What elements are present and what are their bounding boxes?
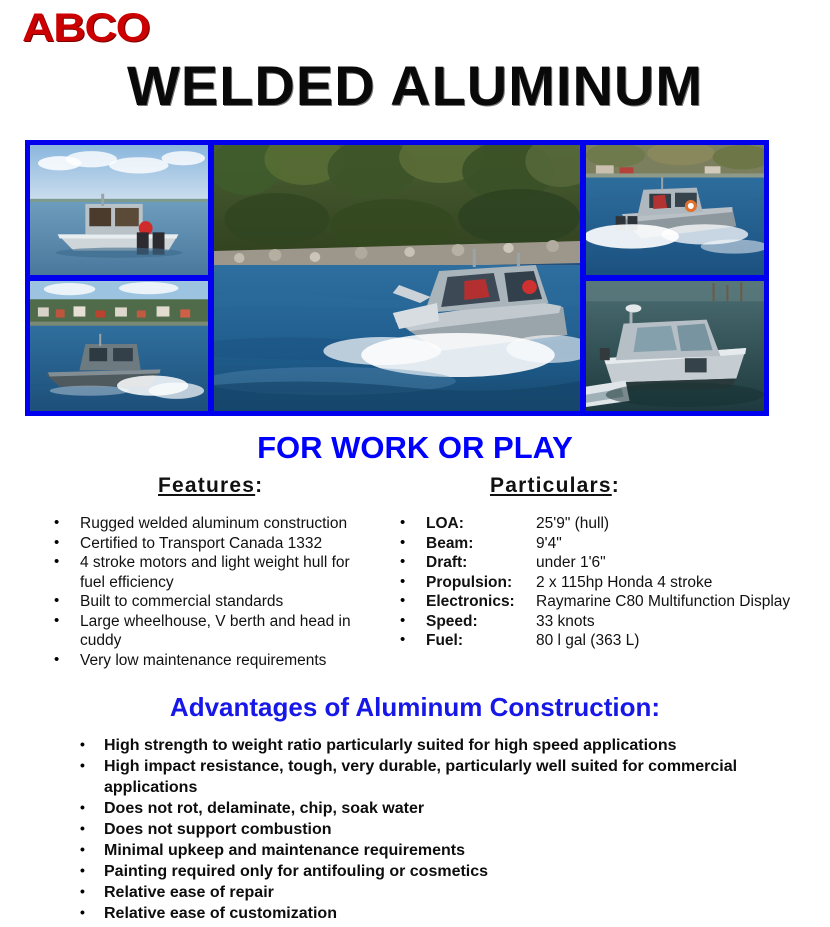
list-item: High strength to weight ratio particular…	[66, 735, 776, 756]
boat-photo-planing-harbour-icon	[586, 145, 764, 275]
boat-photo-docked-wheelhouse-icon	[586, 281, 764, 411]
list-item: Relative ease of repair	[66, 882, 776, 903]
list-item: Large wheelhouse, V berth and head in cu…	[46, 612, 376, 651]
particular-value: Raymarine C80 Multifunction Display	[536, 592, 812, 612]
boat-photo-running-past-village-icon	[30, 281, 208, 411]
table-row: Beam: 9'4"	[392, 534, 812, 554]
particulars-heading: Particulars:	[490, 474, 620, 498]
list-item: Certified to Transport Canada 1332	[46, 534, 376, 554]
photo-right-top	[586, 145, 764, 275]
particulars-heading-colon: :	[612, 474, 620, 497]
list-item: High impact resistance, tough, very dura…	[66, 756, 776, 798]
particular-value: 9'4"	[536, 534, 812, 554]
boat-photo-underway-rocky-shoreline-icon	[214, 145, 580, 411]
particular-label: Speed:	[426, 612, 536, 632]
features-bullet-list: Rugged welded aluminum construction Cert…	[46, 514, 376, 670]
abco-logo-text: ABCO	[22, 6, 149, 50]
photo-left-bottom	[30, 281, 208, 411]
particulars-list: LOA: 25'9" (hull) Beam: 9'4" Draft: unde…	[392, 514, 812, 651]
particular-label: Fuel:	[426, 631, 536, 651]
table-row: Electronics: Raymarine C80 Multifunction…	[392, 592, 812, 612]
list-item: Relative ease of customization	[66, 903, 776, 924]
particular-label: Draft:	[426, 553, 536, 573]
particular-label: LOA:	[426, 514, 536, 534]
table-row: Speed: 33 knots	[392, 612, 812, 632]
list-item: Minimal upkeep and maintenance requireme…	[66, 840, 776, 861]
tagline: FOR WORK OR PLAY	[0, 430, 830, 466]
particular-value: 2 x 115hp Honda 4 stroke	[536, 573, 812, 593]
photo-center	[214, 145, 580, 411]
collage-right-column	[586, 145, 764, 411]
photo-right-bottom	[586, 281, 764, 411]
list-item: Does not support combustion	[66, 819, 776, 840]
table-row: Propulsion: 2 x 115hp Honda 4 stroke	[392, 573, 812, 593]
collage-left-column	[30, 145, 208, 411]
list-item: Rugged welded aluminum construction	[46, 514, 376, 534]
table-row: Fuel: 80 l gal (363 L)	[392, 631, 812, 651]
features-heading: Features:	[158, 474, 263, 498]
particular-value: under 1'6"	[536, 553, 812, 573]
photo-collage	[25, 140, 769, 416]
boat-photo-moored-twin-outboards-icon	[30, 145, 208, 275]
particular-label: Propulsion:	[426, 573, 536, 593]
page-title: WELDED ALUMINUM	[0, 57, 830, 116]
list-item: Painting required only for antifouling o…	[66, 861, 776, 882]
section-headings: Features: Particulars:	[0, 474, 830, 500]
table-row: Draft: under 1'6"	[392, 553, 812, 573]
table-row: LOA: 25'9" (hull)	[392, 514, 812, 534]
features-list: Rugged welded aluminum construction Cert…	[46, 514, 376, 670]
advantages-title: Advantages of Aluminum Construction:	[0, 692, 830, 723]
advantages-bullet-list: High strength to weight ratio particular…	[66, 735, 776, 924]
list-item: 4 stroke motors and light weight hull fo…	[46, 553, 376, 592]
collage-center-column	[214, 145, 580, 411]
list-item: Does not rot, delaminate, chip, soak wat…	[66, 798, 776, 819]
particular-value: 80 l gal (363 L)	[536, 631, 812, 651]
particular-label: Electronics:	[426, 592, 536, 612]
features-heading-colon: :	[255, 474, 263, 497]
photo-left-top	[30, 145, 208, 275]
particulars-bullet-list: LOA: 25'9" (hull) Beam: 9'4" Draft: unde…	[392, 514, 812, 651]
particular-label: Beam:	[426, 534, 536, 554]
abco-logo: ABCO	[22, 8, 149, 48]
particular-value: 25'9" (hull)	[536, 514, 812, 534]
list-item: Built to commercial standards	[46, 592, 376, 612]
advantages-list: High strength to weight ratio particular…	[66, 735, 776, 924]
particulars-heading-label: Particulars	[490, 474, 612, 497]
features-heading-label: Features	[158, 474, 255, 497]
list-item: Very low maintenance requirements	[46, 651, 376, 671]
particular-value: 33 knots	[536, 612, 812, 632]
